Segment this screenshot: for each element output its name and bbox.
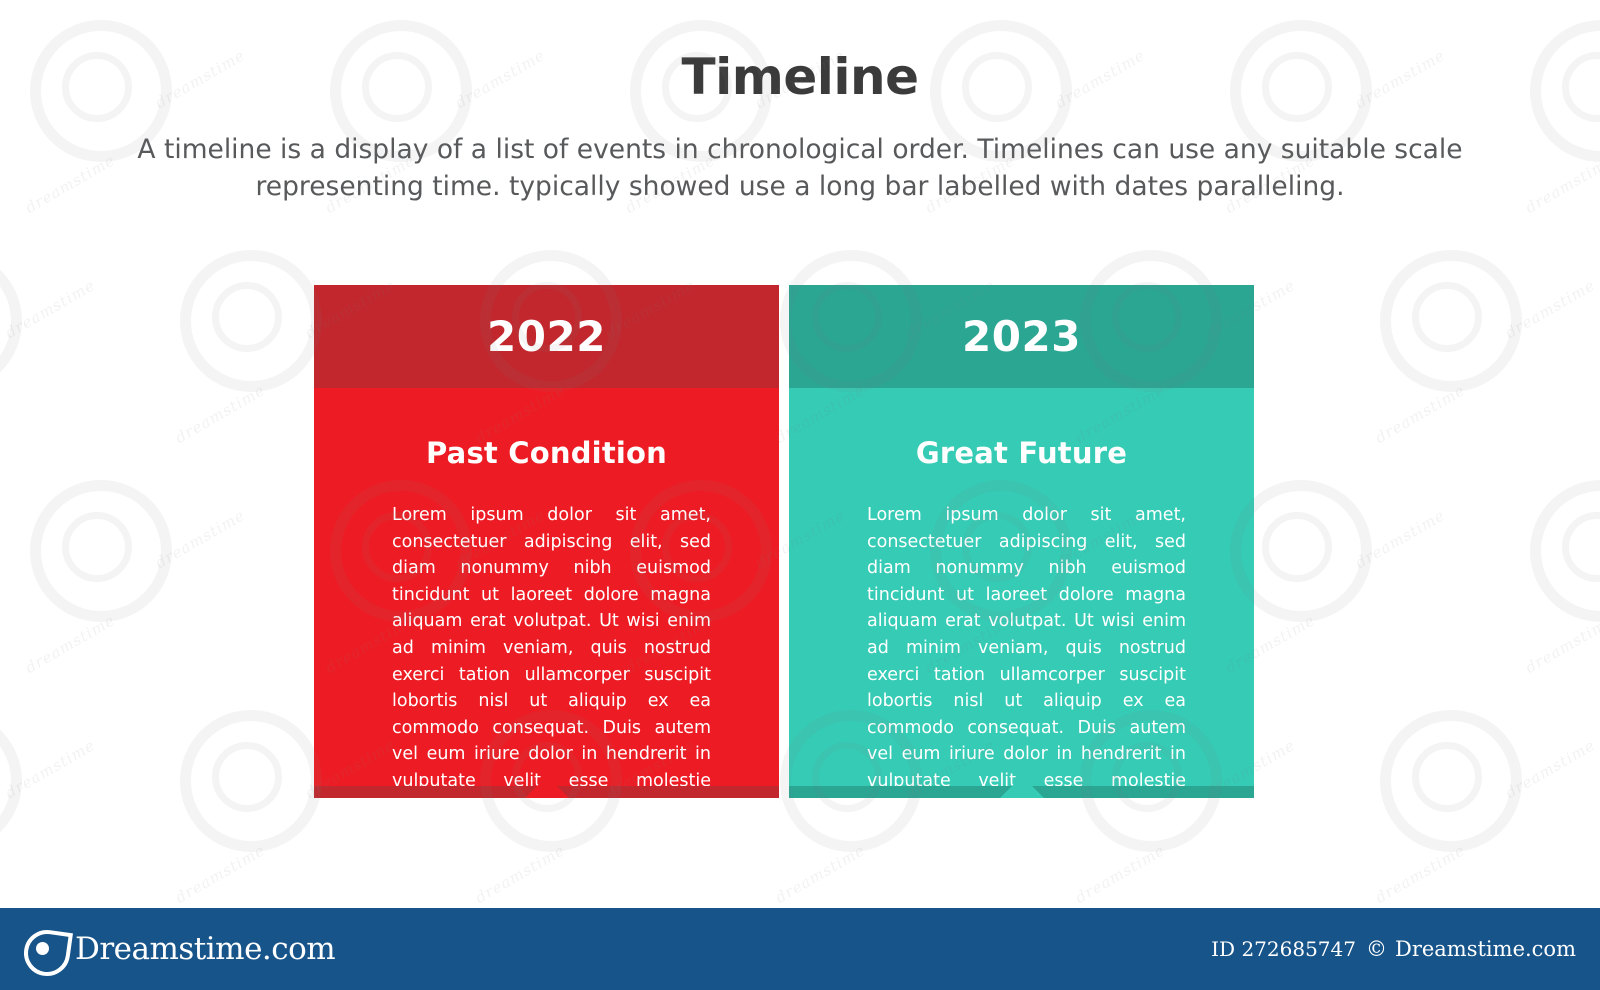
card-title: Great Future [789,388,1254,470]
copyright-icon: © [1366,937,1387,961]
card-year-badge: 2023 [789,285,1254,388]
page-title: Timeline [0,48,1600,106]
footer-bar: Dreamstime.com ID 272685747 © Dreamstime… [0,908,1600,990]
leaf-icon [22,927,66,971]
card-year-badge: 2022 [314,285,779,388]
timeline-card-2022[interactable]: 2022 Past Condition Lorem ipsum dolor si… [314,285,779,798]
card-footer-bar [314,786,779,798]
slide-canvas: Timeline A timeline is a display of a li… [0,0,1600,908]
footer-meta: ID 272685747 © Dreamstime.com [1211,937,1576,961]
timeline-card-2023[interactable]: 2023 Great Future Lorem ipsum dolor sit … [789,285,1254,798]
card-body: Past Condition Lorem ipsum dolor sit ame… [314,388,779,786]
card-description: Lorem ipsum dolor sit amet, consectetuer… [392,502,711,821]
down-arrow-icon [1000,776,1044,798]
page-subtitle: A timeline is a display of a list of eve… [80,132,1520,205]
dreamstime-logo[interactable]: Dreamstime.com [22,927,335,971]
image-id: ID 272685747 [1211,937,1356,961]
footer-brand-right: Dreamstime.com [1395,937,1576,961]
card-body: Great Future Lorem ipsum dolor sit amet,… [789,388,1254,786]
timeline-cards: 2022 Past Condition Lorem ipsum dolor si… [314,285,1254,798]
card-title: Past Condition [314,388,779,470]
brand-name: Dreamstime.com [75,931,335,967]
card-footer-bar [789,786,1254,798]
card-description: Lorem ipsum dolor sit amet, consectetuer… [867,502,1186,821]
down-arrow-icon [525,776,569,798]
